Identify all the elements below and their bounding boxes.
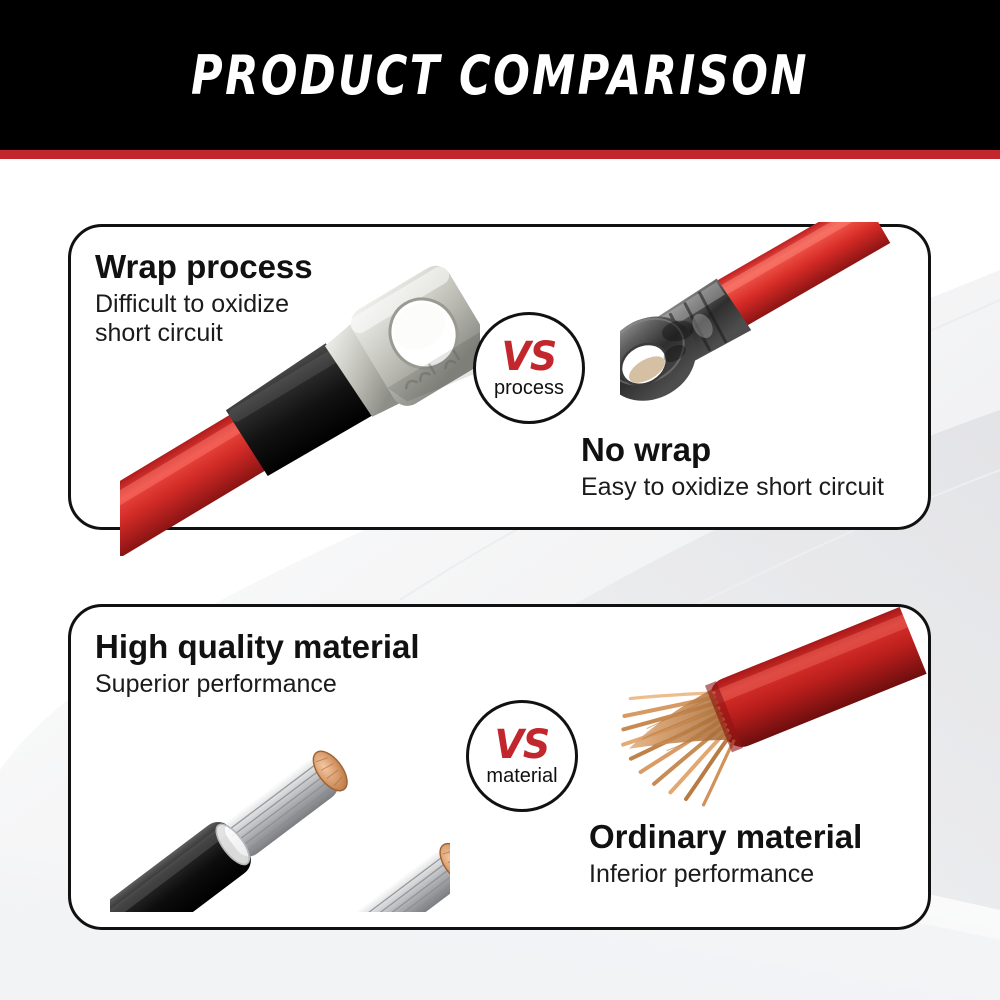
material-left-heading: High quality material xyxy=(95,629,420,665)
vs-caption: material xyxy=(486,765,557,787)
material-right-text-block: Ordinary material Inferior performance xyxy=(589,819,862,889)
vs-badge-process: VS process xyxy=(473,312,585,424)
material-left-text-block: High quality material Superior performan… xyxy=(95,629,420,699)
vs-caption: process xyxy=(494,377,564,399)
wrap-left-subtext-line2: short circuit xyxy=(95,319,313,349)
wrap-right-subtext-line1: Easy to oxidize short circuit xyxy=(581,473,884,503)
header-bar: PRODUCT COMPARISON xyxy=(0,0,1000,150)
wrap-right-text-block: No wrap Easy to oxidize short circuit xyxy=(581,432,884,502)
header-red-stripe xyxy=(0,150,1000,159)
material-right-subtext-line1: Inferior performance xyxy=(589,860,862,890)
product-comparison-infographic: PRODUCT COMPARISON Wrap process Difficul… xyxy=(0,0,1000,1000)
vs-label: VS xyxy=(495,726,550,764)
page-title: PRODUCT COMPARISON xyxy=(100,0,900,150)
wrap-left-text-block: Wrap process Difficult to oxidize short … xyxy=(95,249,313,349)
wrap-right-heading: No wrap xyxy=(581,432,884,468)
vs-badge-material: VS material xyxy=(466,700,578,812)
material-left-subtext-line1: Superior performance xyxy=(95,670,420,700)
vs-label: VS xyxy=(502,338,557,376)
material-right-heading: Ordinary material xyxy=(589,819,862,855)
wrap-left-heading: Wrap process xyxy=(95,249,313,285)
wrap-left-subtext-line1: Difficult to oxidize xyxy=(95,290,313,320)
